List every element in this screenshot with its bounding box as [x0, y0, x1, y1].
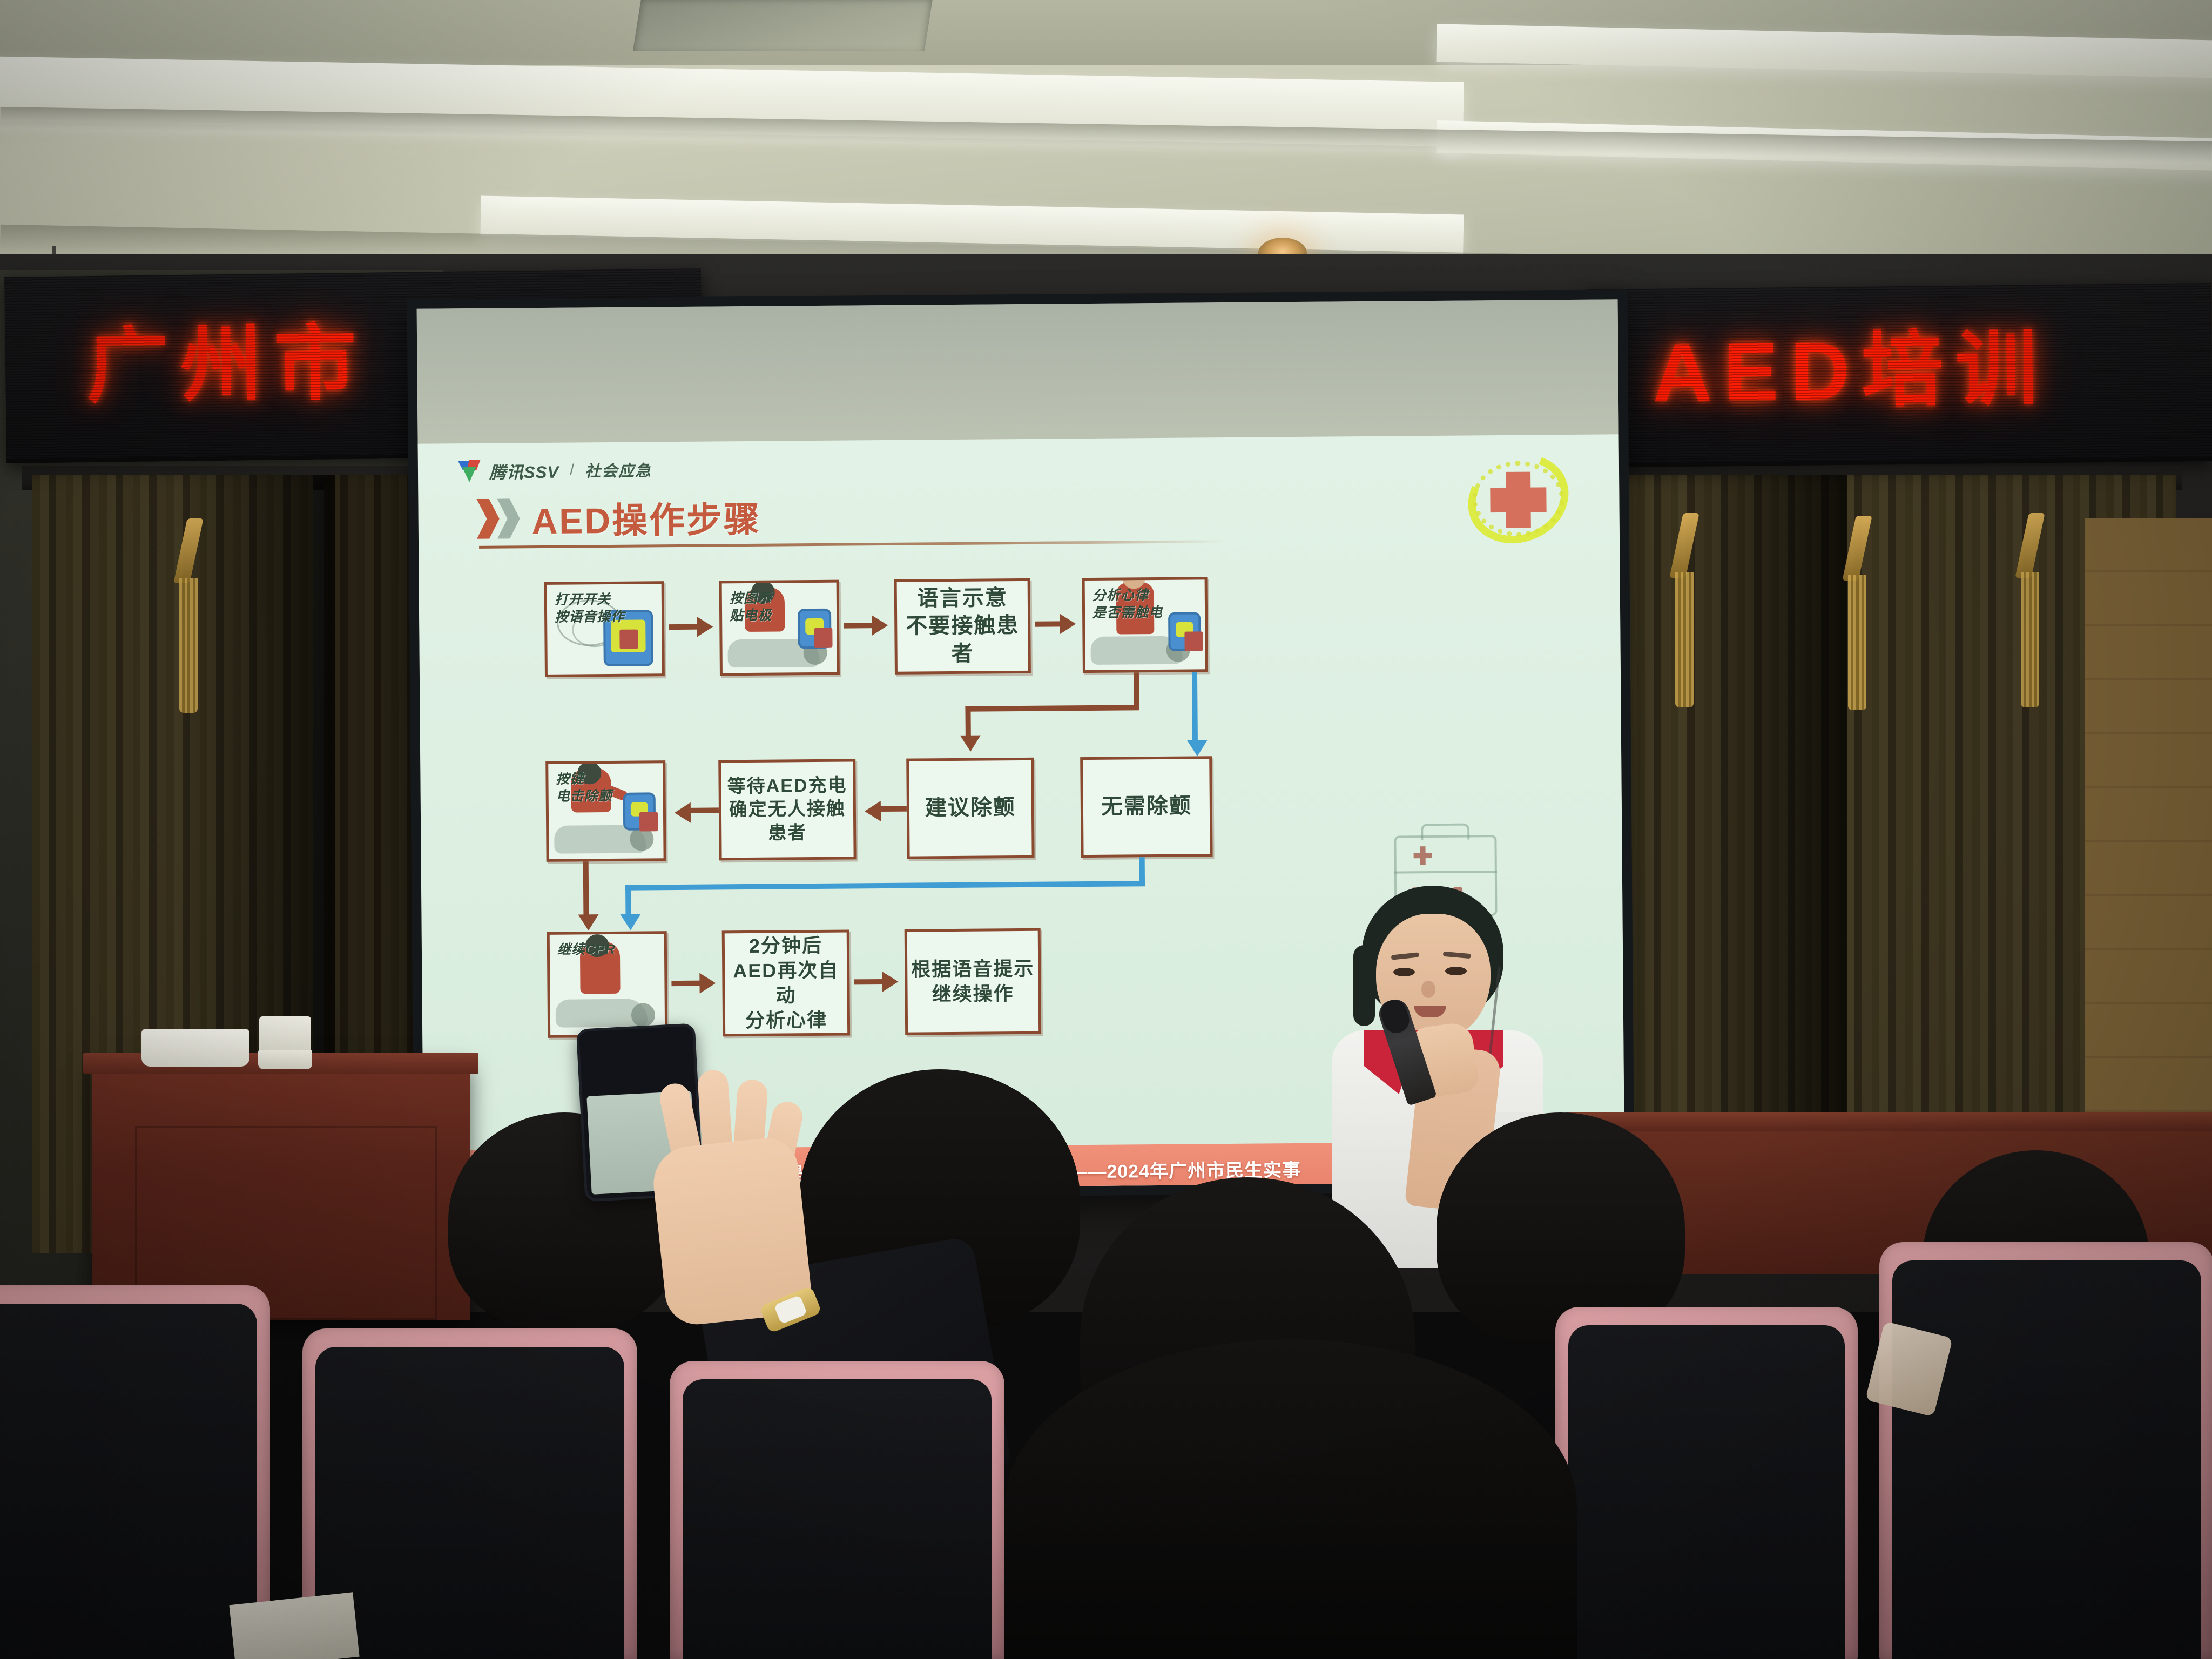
- flow-node-n11: 根据语音提示继续操作: [905, 928, 1042, 1035]
- flow-arrow: [882, 972, 898, 992]
- podium: [92, 1061, 470, 1320]
- flow-edge: [669, 624, 699, 630]
- flow-edge-blue: [625, 885, 631, 919]
- flow-arrow: [675, 802, 691, 823]
- flow-arrow: [865, 801, 881, 821]
- flow-node-n8: 无需除颤: [1080, 756, 1212, 858]
- flow-node-n1: 打开开关按语音操作: [544, 581, 665, 677]
- wall-tiles-right: [2085, 518, 2212, 1193]
- flow-node-n7: 建议除颤: [906, 758, 1034, 859]
- cup: [258, 1050, 312, 1069]
- ceiling-vent: [633, 0, 934, 51]
- flow-node-n2: 按图示贴电极: [719, 580, 840, 676]
- cup: [141, 1029, 249, 1067]
- flow-edge: [965, 706, 970, 740]
- flow-arrow: [1060, 613, 1076, 634]
- flow-edge: [965, 705, 1139, 712]
- auditorium-seat[interactable]: [1555, 1307, 1858, 1659]
- flow-node-n3: 语言示意不要接触患者: [894, 578, 1031, 675]
- flow-arrow: [960, 736, 981, 752]
- flow-edge: [690, 807, 720, 813]
- flow-edge: [880, 806, 910, 812]
- flow-edge: [854, 979, 884, 984]
- flow-node-n9: 继续CPR: [547, 931, 668, 1038]
- flow-arrow: [697, 616, 713, 637]
- flow-edge: [844, 623, 874, 628]
- flow-edge: [671, 981, 702, 986]
- flow-edge: [1035, 621, 1062, 626]
- flow-edge: [583, 861, 589, 919]
- curtain-tieback: [178, 518, 199, 713]
- flow-arrow-blue: [1187, 740, 1208, 756]
- led-scanline-overlay: [1587, 283, 2212, 463]
- flow-edge-blue: [625, 881, 1145, 891]
- led-banner-right: AED培训: [1587, 283, 2212, 468]
- flow-node-n4: 分析心律是否需触电: [1082, 577, 1208, 673]
- flow-arrow-blue: [620, 914, 640, 930]
- flow-arrow: [578, 914, 598, 930]
- flow-arrow: [699, 973, 716, 993]
- lecture-hall-photo: 市厂 In 广州市 AED培训 腾讯SSV / 社会应急: [0, 0, 2212, 1659]
- curtain-tieback: [1847, 516, 1867, 710]
- flow-node-n5: 按键电击除颤: [545, 760, 666, 862]
- flow-node-n10: 2分钟后AED再次自动分析心律: [722, 930, 851, 1037]
- screen-blank-area: [417, 299, 1619, 449]
- auditorium-seat[interactable]: [0, 1285, 270, 1659]
- flow-edge-blue: [1192, 672, 1198, 744]
- curtain-tieback: [2020, 513, 2040, 707]
- curtain-tieback: [1674, 513, 1695, 707]
- flow-edge: [1134, 672, 1139, 709]
- auditorium-seat[interactable]: [670, 1361, 1004, 1659]
- audience-head-foreground: [1004, 1339, 1577, 1659]
- flow-node-n6: 等待AED充电确定无人接触患者: [718, 759, 856, 860]
- auditorium-seat[interactable]: [1879, 1242, 2212, 1659]
- flow-arrow: [872, 615, 888, 636]
